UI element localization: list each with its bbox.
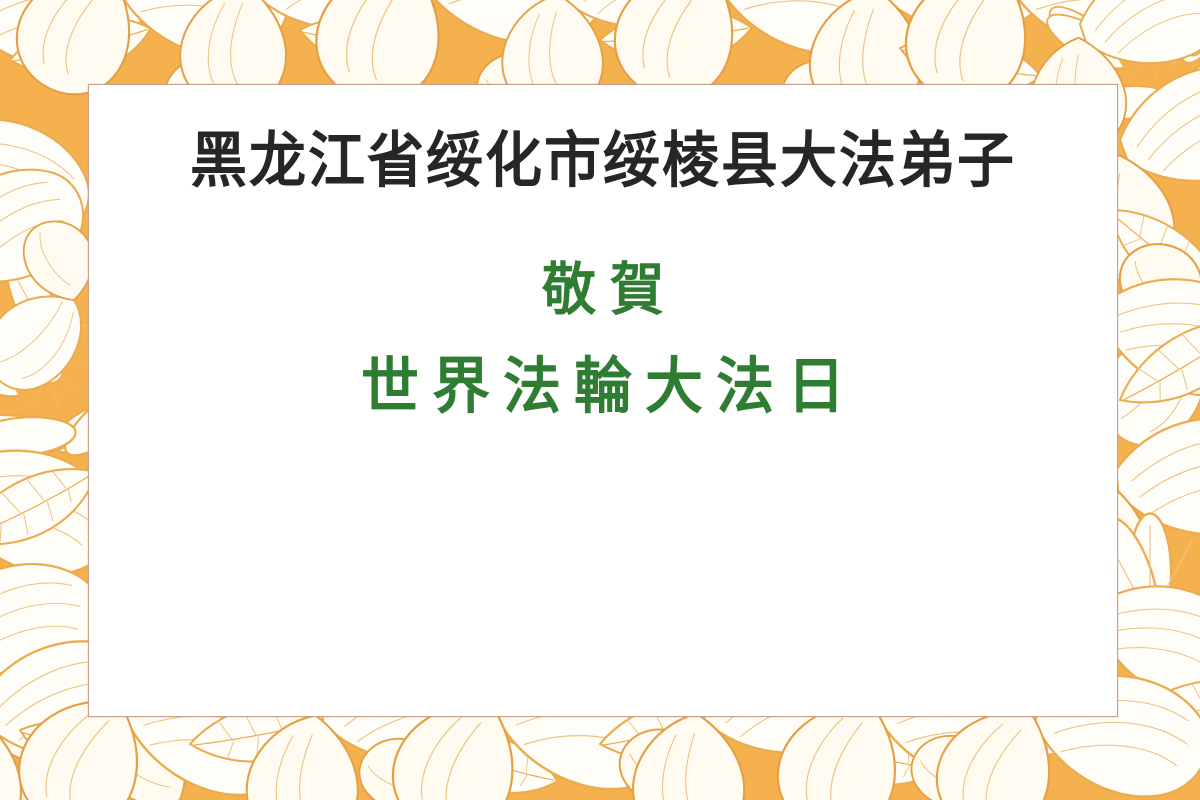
inner-white-card: 黑龙江省绥化市绥棱县大法弟子 敬賀 世界法輪大法日 xyxy=(88,84,1118,717)
salutation-line: 敬賀 xyxy=(89,262,1117,319)
greeting-card: .pet { fill:#FFFDF7; stroke:#E8A33D; str… xyxy=(0,0,1200,800)
sender-line: 黑龙江省绥化市绥棱县大法弟子 xyxy=(89,131,1117,191)
occasion-line: 世界法輪大法日 xyxy=(89,356,1117,417)
